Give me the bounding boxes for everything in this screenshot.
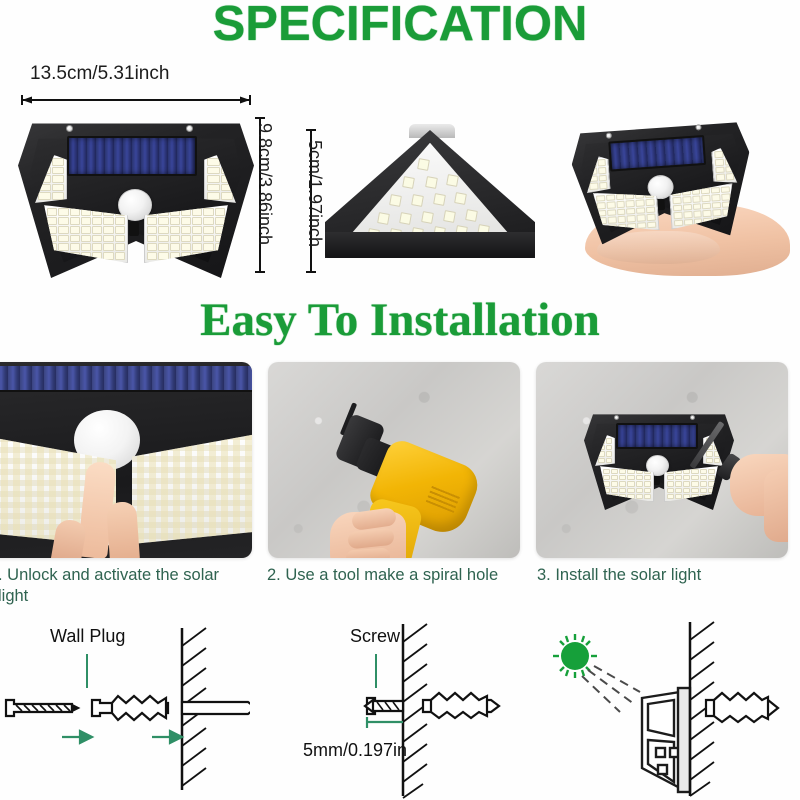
lamp-base [325,232,535,258]
install-step-2-photo [268,362,520,558]
install-step-3-photo [536,362,788,558]
install-step-1-photo [0,362,252,558]
finger [106,501,140,558]
mount-hole-left-mounted [614,415,619,420]
forearm [764,470,788,542]
install-step-1-caption: . Unlock and activate the solar light [0,565,238,607]
install-step-2-caption: 2. Use a tool make a spiral hole [267,565,507,586]
pir-sensor-slot [129,222,139,236]
product-mounted-on-wall [584,406,734,510]
screw-drawing [295,618,545,800]
product-front-view-small [569,112,755,246]
wall-plug-arrows [0,618,250,800]
install-step-3-caption: 3. Install the solar light [537,565,787,586]
dimension-height-label: 9.8cm/3.86inch [254,123,275,245]
sunlight-mount-diagram [520,618,800,800]
dimension-depth-label: 5cm/1.97inch [304,140,325,247]
dimension-width-label: 13.5cm/5.31inch [30,63,169,85]
sunlight-mount-drawing [520,618,800,800]
wall-anchor [706,693,778,722]
lamp-side-profile [642,692,680,788]
product-front-view [18,110,254,278]
solar-panel [67,136,197,176]
light-rays [582,666,640,712]
mount-hole-right [186,125,193,132]
product-side-view [325,130,535,258]
finger [345,547,390,558]
page-title-specification: SPECIFICATION [0,0,800,52]
specification-infographic: SPECIFICATION 13.5cm/5.31inch 9.8cm/3.86… [0,0,800,800]
pir-sensor-slot-mounted [653,476,660,485]
product-scale-view [565,118,795,283]
solar-panel-mounted [616,423,698,449]
wall-plug-diagram: Wall Plug [0,618,250,800]
dimension-width-bar [20,93,252,105]
screw-diagram: Screw 5mm/0.197in [295,618,545,800]
mount-hole-right-mounted [690,415,695,420]
lamp-mount-plate [678,688,690,792]
mount-hole-left [66,125,73,132]
page-title-installation: Easy To Installation [0,293,800,347]
